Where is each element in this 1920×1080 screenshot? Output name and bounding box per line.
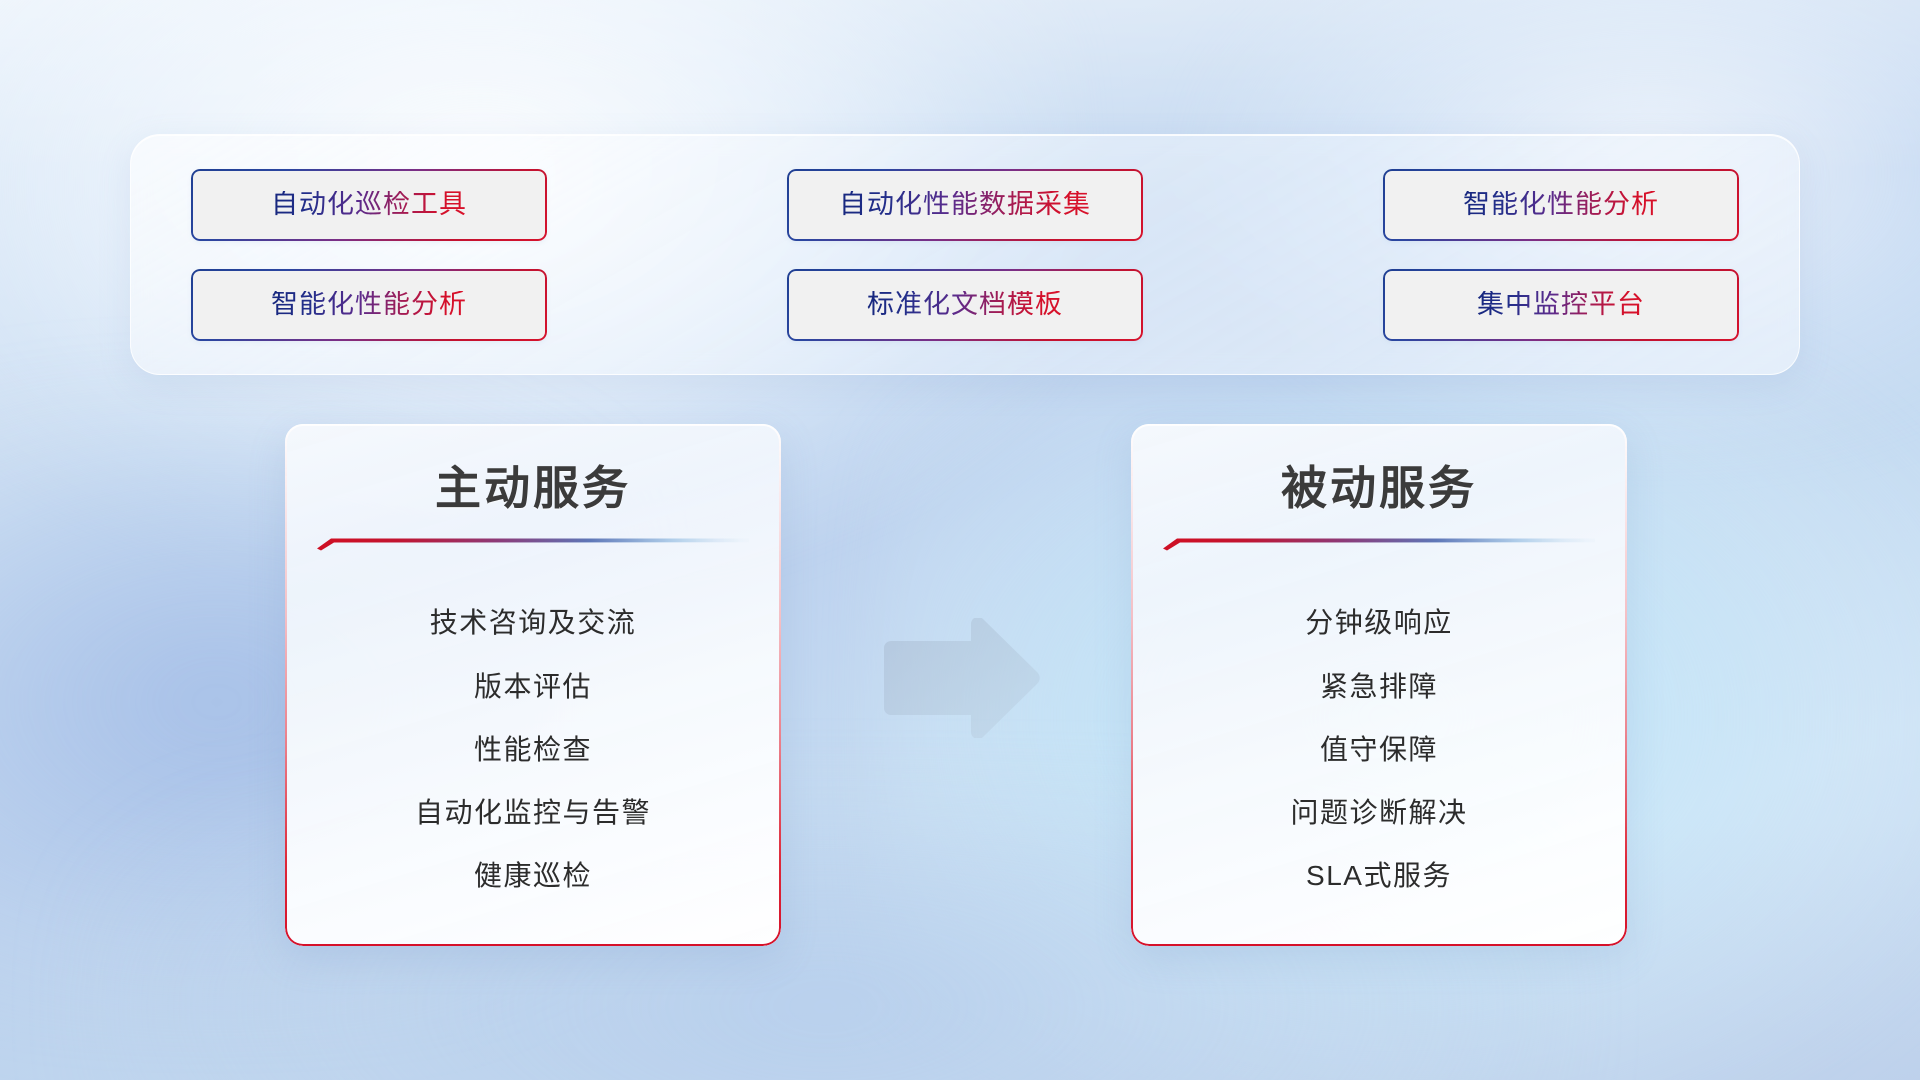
arrow-right-icon [878,618,1043,738]
service-card-passive[interactable]: 被动服务 [1131,424,1627,946]
service-item: 问题诊断解决 [1290,796,1467,830]
service-card-active[interactable]: 主动服务 [285,424,781,946]
capability-pill-label: 集中监控平台 [1477,291,1645,318]
capability-pill-label: 智能化性能分析 [271,291,467,318]
capability-pill-label: 自动化性能数据采集 [839,191,1091,218]
service-item: 版本评估 [474,670,592,704]
capability-pill-automated-performance-collection[interactable]: 自动化性能数据采集 [787,169,1143,241]
service-card-passive-divider [1163,537,1595,551]
service-item: 分钟级响应 [1305,606,1453,640]
capability-pill-centralized-monitoring-platform[interactable]: 集中监控平台 [1383,269,1739,341]
capability-pill-label: 标准化文档模板 [867,291,1063,318]
capability-pill-intelligent-performance-analysis-top[interactable]: 智能化性能分析 [1383,169,1739,241]
service-item: 值守保障 [1320,733,1438,767]
service-item: 健康巡检 [474,859,592,893]
service-item: 自动化监控与告警 [415,796,651,830]
capability-row-2: 智能化性能分析 标准化文档模板 集中监控平台 [161,269,1769,341]
service-card-active-divider [317,537,749,551]
capability-pill-label: 智能化性能分析 [1463,191,1659,218]
capability-panel: 自动化巡检工具 自动化性能数据采集 智能化性能分析 智能化性能分析 标准化文档模… [130,134,1800,375]
service-card-active-items: 技术咨询及交流 版本评估 性能检查 自动化监控与告警 健康巡检 [285,577,781,946]
service-item: 性能检查 [474,733,592,767]
service-card-active-title: 主动服务 [435,462,631,515]
service-item: 紧急排障 [1320,670,1438,704]
capability-pill-label: 自动化巡检工具 [271,191,467,218]
capability-pill-standard-document-template[interactable]: 标准化文档模板 [787,269,1143,341]
capability-pill-automated-inspection-tool[interactable]: 自动化巡检工具 [191,169,547,241]
capability-pill-intelligent-performance-analysis-bottom[interactable]: 智能化性能分析 [191,269,547,341]
service-card-passive-items: 分钟级响应 紧急排障 值守保障 问题诊断解决 SLA式服务 [1131,577,1627,946]
slide-canvas: 自动化巡检工具 自动化性能数据采集 智能化性能分析 智能化性能分析 标准化文档模… [0,0,1920,1080]
service-item: SLA式服务 [1306,859,1452,893]
capability-row-1: 自动化巡检工具 自动化性能数据采集 智能化性能分析 [161,169,1769,241]
service-item: 技术咨询及交流 [430,606,637,640]
service-card-active-body: 主动服务 [285,424,781,946]
service-card-passive-title: 被动服务 [1281,462,1477,515]
service-card-passive-body: 被动服务 [1131,424,1627,946]
